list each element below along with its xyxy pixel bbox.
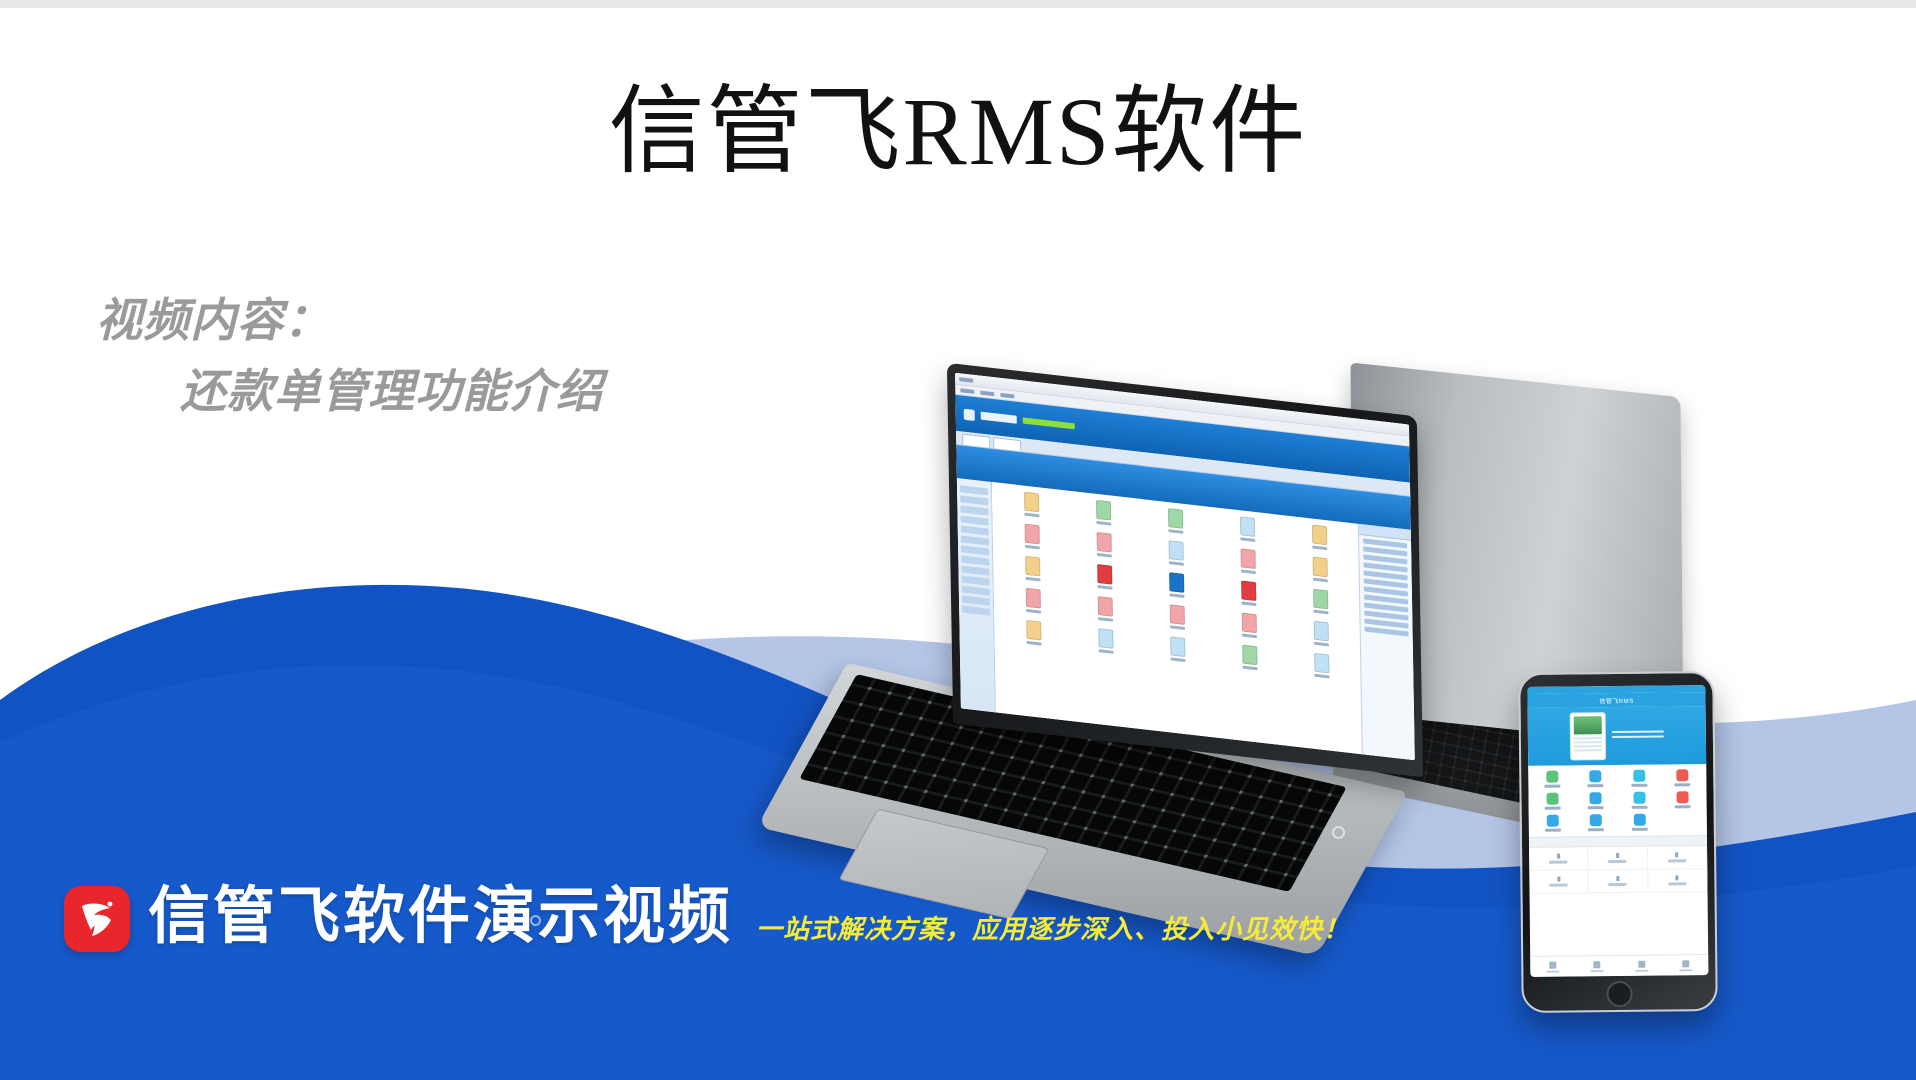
sidebar-item[interactable] [962, 575, 990, 585]
titlebar-title [959, 377, 973, 383]
sidebar-item[interactable] [961, 515, 989, 525]
brand-tagline-text: 一站式解决方案，应用逐步深入、投入小见效快！ [756, 909, 1350, 946]
phone-grid-item[interactable] [1662, 769, 1704, 786]
app-grid-icon[interactable] [998, 617, 1069, 655]
app-icon-grid [992, 482, 1362, 754]
sidebar-item[interactable] [960, 495, 988, 505]
decor-dot [530, 915, 541, 926]
app-logo-icon [964, 408, 975, 420]
toolbar-button[interactable] [1321, 504, 1334, 505]
subtitle-block: 视频内容： 还款单管理功能介绍 [96, 285, 996, 428]
app-grid-icon[interactable] [1286, 650, 1357, 688]
phone-grid-item[interactable] [1531, 792, 1573, 809]
phone-stat-cell[interactable] [1588, 847, 1648, 871]
phone-grid-item[interactable] [1575, 770, 1617, 787]
toolbar-button[interactable] [1390, 512, 1403, 513]
sidebar-item[interactable] [962, 586, 990, 596]
presentation-slide: 信管飞RMS软件 视频内容： 还款单管理功能介绍 [0, 0, 1916, 1080]
app-grid-icon[interactable] [1142, 633, 1213, 671]
phone-stat-cell[interactable] [1648, 846, 1708, 870]
sidebar-item[interactable] [961, 555, 989, 565]
desktop-app-window [955, 373, 1415, 761]
laptop-screen [955, 373, 1415, 761]
subtitle-item: 还款单管理功能介绍 [180, 356, 996, 427]
laptop-bezel [947, 363, 1423, 777]
phone-grid-item[interactable] [1662, 791, 1704, 808]
app-brand-badge [1023, 417, 1075, 429]
sidebar-item[interactable] [960, 505, 988, 515]
menu-item[interactable] [960, 388, 974, 394]
phone-grid-item[interactable] [1532, 814, 1574, 831]
sidebar-item[interactable] [960, 485, 988, 495]
menu-item[interactable] [1000, 392, 1014, 398]
sidebar-item[interactable] [961, 535, 989, 545]
phone-hero-card-icon [1570, 712, 1607, 760]
xinguanfei-logo-icon [64, 886, 130, 952]
toolbar-button[interactable] [1367, 510, 1380, 511]
app-brand-text [981, 412, 1017, 424]
laptop-lid [947, 363, 1423, 777]
device-composite-image: 信管飞RMS [880, 372, 1916, 932]
phone-hero-text [1612, 731, 1664, 742]
app-grid-icon[interactable] [1070, 625, 1141, 663]
phone-grid-item[interactable] [1619, 814, 1661, 831]
phone-grid-item[interactable] [1531, 770, 1573, 787]
app-right-panel [1358, 524, 1415, 761]
decor-dot [1598, 895, 1611, 908]
sidebar-item[interactable] [962, 606, 990, 616]
sidebar-item[interactable] [961, 545, 989, 555]
phone-stat-cell[interactable] [1529, 847, 1589, 871]
app-grid-icon[interactable] [1214, 641, 1285, 679]
phone-icon-grid [1528, 764, 1707, 837]
toolbar-button[interactable] [1275, 499, 1288, 500]
bottom-brand-bar: 信管飞软件演示视频 一站式解决方案，应用逐步深入、投入小见效快！ [0, 870, 1916, 1080]
toolbar-button[interactable] [1298, 502, 1311, 503]
app-sidebar [957, 478, 996, 712]
sidebar-item[interactable] [961, 525, 989, 535]
phone-grid-item[interactable] [1618, 792, 1660, 809]
slide-title: 信管飞RMS软件 [0, 72, 1916, 192]
phone-grid-item[interactable] [1575, 792, 1617, 809]
phone-hero-banner [1528, 706, 1707, 766]
subtitle-label: 视频内容： [96, 285, 996, 356]
phone-app-title: 信管飞RMS [1599, 695, 1633, 704]
sidebar-item[interactable] [961, 565, 989, 575]
phone-grid-item[interactable] [1575, 814, 1617, 831]
brand-name-text: 信管飞软件演示视频 [148, 865, 733, 955]
right-panel-row[interactable] [1365, 627, 1409, 637]
sidebar-item[interactable] [962, 596, 990, 606]
decor-dot [1332, 826, 1345, 839]
menu-item[interactable] [980, 390, 994, 396]
phone-grid-item[interactable] [1618, 770, 1660, 787]
toolbar-button[interactable] [1344, 507, 1357, 508]
